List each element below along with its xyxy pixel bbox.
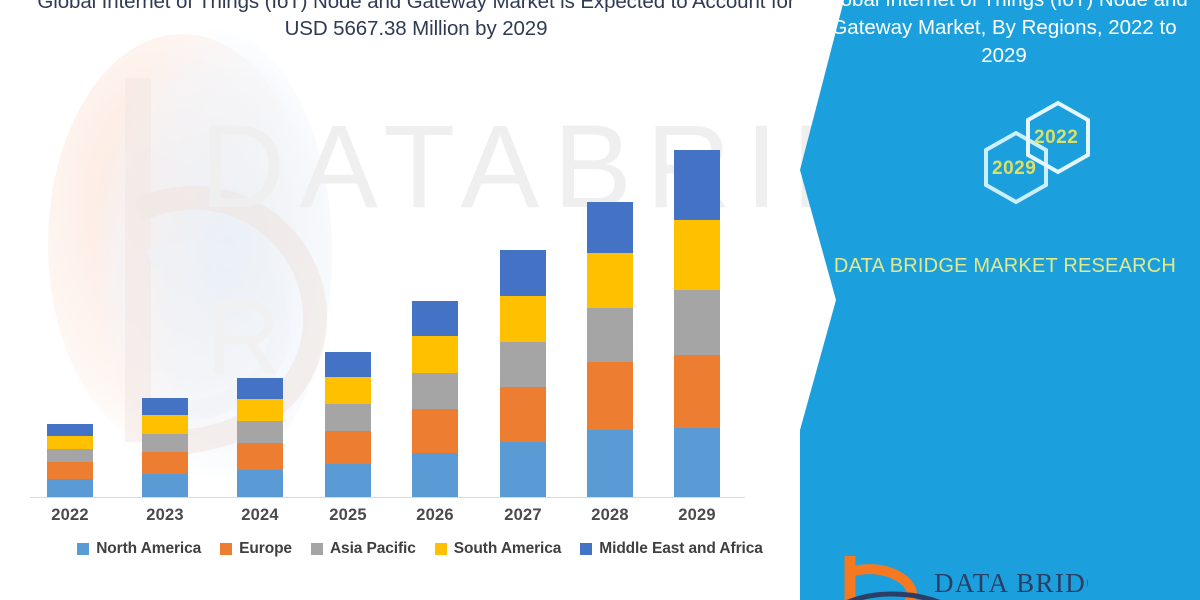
data-bridge-logo: DATA BRIDGE — [838, 552, 1088, 600]
bar-segment — [412, 301, 458, 336]
bar-segment — [674, 290, 720, 355]
brand-company-name: DATA BRIDGE MARKET RESEARCH — [830, 252, 1180, 280]
bar-group — [47, 424, 93, 497]
bar-segment — [587, 362, 633, 430]
bar-segment — [47, 436, 93, 449]
bar-segment — [587, 202, 633, 253]
chart-title: Global Internet of Things (IoT) Node and… — [30, 0, 802, 43]
legend-item[interactable]: Asia Pacific — [311, 540, 416, 558]
bar-segment — [587, 308, 633, 362]
bar-segment — [500, 250, 546, 296]
brand-panel: Global Internet of Things (IoT) Node and… — [800, 0, 1200, 600]
bar-segment — [412, 409, 458, 453]
bar-segment — [47, 479, 93, 497]
bar-segment — [412, 373, 458, 409]
logo-wordmark: DATA BRIDGE — [934, 568, 1088, 598]
x-axis-label: 2024 — [214, 506, 306, 525]
bar-segment — [237, 399, 283, 421]
hexagon-label-2022: 2022 — [1034, 127, 1078, 149]
legend-item[interactable]: Europe — [220, 540, 292, 558]
bar-group — [237, 378, 283, 497]
legend-item[interactable]: North America — [77, 540, 201, 558]
brand-panel-background — [800, 0, 1200, 600]
x-axis-label: 2022 — [24, 506, 116, 525]
legend-label: South America — [454, 540, 562, 558]
bar-group — [500, 250, 546, 497]
legend-swatch-icon — [220, 543, 232, 555]
legend-label: Europe — [239, 540, 292, 558]
x-axis-label: 2026 — [389, 506, 481, 525]
bar-group — [142, 398, 188, 497]
x-axis-label: 2027 — [477, 506, 569, 525]
bar-segment — [237, 378, 283, 399]
legend-label: North America — [96, 540, 201, 558]
bar-segment — [500, 342, 546, 387]
brand-panel-title: Global Internet of Things (IoT) Node and… — [820, 0, 1188, 70]
chart-legend: North AmericaEuropeAsia PacificSouth Ame… — [30, 540, 810, 558]
legend-item[interactable]: South America — [435, 540, 562, 558]
legend-swatch-icon — [77, 543, 89, 555]
bar-segment — [500, 442, 546, 497]
x-axis-label: 2023 — [119, 506, 211, 525]
x-axis-label: 2028 — [564, 506, 656, 525]
bar-segment — [142, 452, 188, 474]
x-axis-label: 2025 — [302, 506, 394, 525]
bar-group — [325, 352, 371, 497]
x-axis-label: 2029 — [651, 506, 743, 525]
bar-segment — [587, 430, 633, 497]
bar-segment — [142, 474, 188, 497]
bar-segment — [325, 352, 371, 377]
bar-group — [412, 301, 458, 497]
bar-segment — [237, 443, 283, 470]
hexagon-outline-icons — [900, 92, 1200, 222]
bar-segment — [325, 464, 371, 497]
bar-segment — [500, 387, 546, 442]
bar-segment — [237, 470, 283, 497]
legend-swatch-icon — [311, 543, 323, 555]
bar-segment — [47, 449, 93, 462]
bar-segment — [674, 428, 720, 497]
chart-infographic: DATABRIDGE R Global Internet of Things (… — [0, 0, 1200, 600]
bar-group — [674, 150, 720, 497]
hexagon-badges: 2029 2022 — [900, 92, 1200, 222]
bar-segment — [237, 421, 283, 443]
x-axis-line — [30, 497, 745, 498]
bar-segment — [325, 431, 371, 464]
chart-panel: DATABRIDGE R Global Internet of Things (… — [0, 0, 860, 600]
legend-item[interactable]: Middle East and Africa — [580, 540, 762, 558]
bar-segment — [325, 377, 371, 404]
bar-segment — [674, 220, 720, 290]
bar-segment — [142, 398, 188, 415]
bar-segment — [674, 355, 720, 428]
legend-swatch-icon — [580, 543, 592, 555]
x-axis-labels: 20222023202420252026202720282029 — [30, 506, 745, 534]
legend-label: Asia Pacific — [330, 540, 416, 558]
hexagon-label-2029: 2029 — [992, 158, 1036, 180]
bar-segment — [412, 336, 458, 373]
bar-segment — [325, 404, 371, 431]
legend-swatch-icon — [435, 543, 447, 555]
bar-segment — [142, 434, 188, 452]
bar-segment — [587, 253, 633, 308]
legend-label: Middle East and Africa — [599, 540, 762, 558]
plot-area — [30, 96, 745, 498]
bar-segment — [412, 453, 458, 497]
bar-segment — [674, 150, 720, 220]
bar-group — [587, 202, 633, 497]
bar-segment — [47, 462, 93, 479]
bar-segment — [500, 296, 546, 342]
bar-segment — [142, 415, 188, 434]
bar-segment — [47, 424, 93, 436]
